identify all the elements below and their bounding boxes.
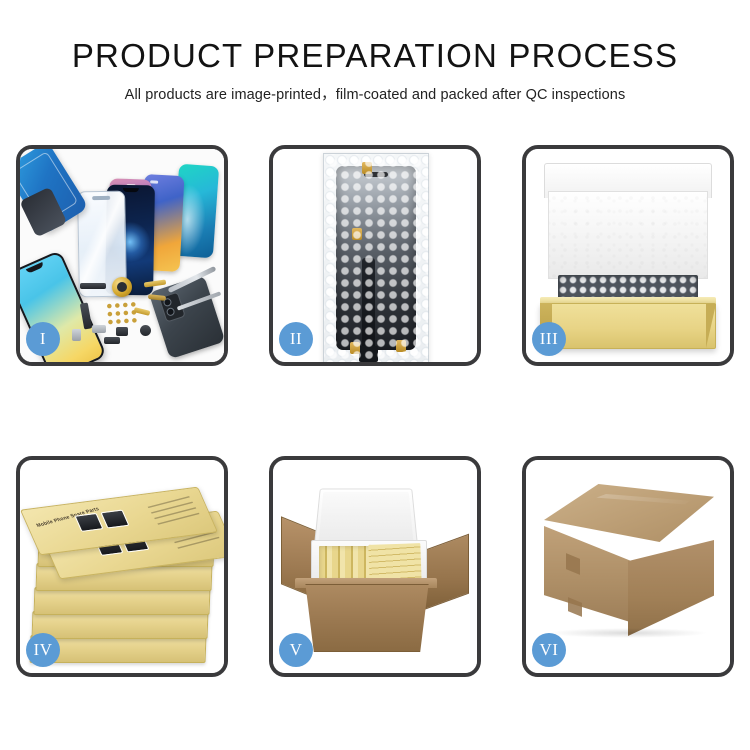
kraft-box-front-icon xyxy=(540,303,716,349)
carton-left-face-icon xyxy=(544,526,630,622)
carton-right-face-icon xyxy=(628,540,714,636)
screw-set-icon xyxy=(105,300,145,331)
bubble-wrap-bag-icon xyxy=(323,153,429,362)
process-step-grid: I II xyxy=(16,145,734,677)
part-vibrator-icon xyxy=(104,337,120,344)
part-sim-tray-icon xyxy=(72,329,81,341)
part-earpiece-icon xyxy=(80,283,106,289)
step-badge-3: III xyxy=(532,322,566,356)
part-camera-icon xyxy=(116,327,128,336)
process-step-panel-4[interactable]: Mobile Phone Spare Parts Mobile Phone Sp… xyxy=(16,456,228,677)
process-step-panel-1[interactable]: I xyxy=(16,145,228,366)
part-bracket-icon xyxy=(92,325,106,333)
box-artwork-icon xyxy=(74,513,103,532)
carton-flap-right-icon xyxy=(423,534,469,611)
step-badge-4: IV xyxy=(26,633,60,667)
process-step-panel-5[interactable]: V xyxy=(269,456,481,677)
retail-box-icon xyxy=(34,587,211,615)
screen-flex-cable-icon xyxy=(362,258,375,362)
process-step-panel-6[interactable]: VI xyxy=(522,456,734,677)
retail-box-icon xyxy=(32,611,209,639)
tape-strip-icon xyxy=(396,340,406,352)
part-button-icon xyxy=(140,325,151,336)
tape-strip-icon xyxy=(352,228,362,240)
carton-shadow xyxy=(548,628,708,638)
step-badge-6: VI xyxy=(532,633,566,667)
process-step-panel-3[interactable]: III xyxy=(522,145,734,366)
foam-liner-icon xyxy=(548,191,708,279)
page-header: PRODUCT PREPARATION PROCESS All products… xyxy=(0,38,750,104)
tape-strip-icon xyxy=(362,162,372,174)
step-badge-1: I xyxy=(26,322,60,356)
box-spec-text-icon xyxy=(147,494,200,525)
page-title: PRODUCT PREPARATION PROCESS xyxy=(0,38,750,74)
box-artwork-icon xyxy=(100,510,129,529)
step-badge-5: V xyxy=(279,633,313,667)
styrofoam-lid-icon xyxy=(314,489,418,547)
product-preparation-process-page: PRODUCT PREPARATION PROCESS All products… xyxy=(0,0,750,750)
process-step-panel-2[interactable]: II xyxy=(269,145,481,366)
tape-strip-icon xyxy=(350,342,360,354)
speaker-module-icon xyxy=(112,277,132,297)
screen-assembly-icon xyxy=(336,166,416,350)
carton-front-icon xyxy=(297,584,437,652)
step-badge-2: II xyxy=(279,322,313,356)
carton-top-icon xyxy=(544,484,714,542)
page-subtitle: All products are image-printed，film-coat… xyxy=(0,83,750,104)
